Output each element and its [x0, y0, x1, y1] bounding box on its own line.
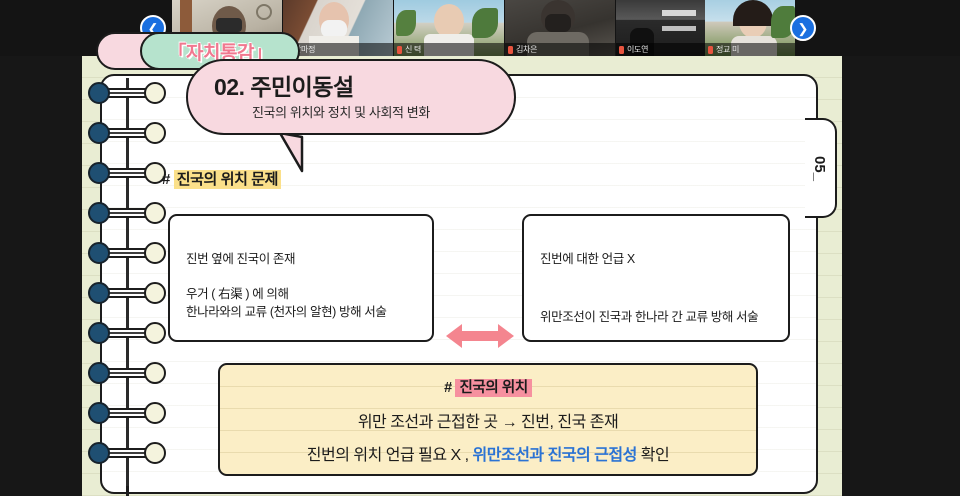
card-line-2b: 한나라와의 교류 (천자의 알현) 방해 서술	[186, 303, 422, 321]
double-arrow-horizontal-icon	[444, 318, 516, 354]
participant-name-bar: 김차은	[505, 43, 615, 56]
summary-row-1: 위만 조선과 근접한 곳 → 진번, 진국 존재	[220, 408, 756, 432]
participant-name-bar: 신 텩	[394, 43, 504, 56]
spiral-binding	[88, 78, 174, 490]
participant-name: 김차은	[516, 45, 537, 54]
spiral-ring	[88, 202, 168, 224]
spiral-ring	[88, 362, 168, 384]
page-title: 02. 주민이동설	[214, 68, 354, 102]
summary-hash: #	[444, 380, 452, 396]
participant-name: 이도연	[627, 45, 648, 54]
mic-muted-icon	[397, 46, 402, 54]
slide-title-bubble: 02. 주민이동설 진국의 위치와 정치 및 사회적 변화	[186, 59, 516, 135]
participant-tile[interactable]: 정교 미	[705, 0, 795, 56]
summary-row-2-pre: 진번의 위치 언급 필요 X ,	[307, 447, 473, 464]
summary-row-2-post: 확인	[637, 447, 669, 464]
screen: 최원빈(총무.. 날마정 신 텩	[0, 0, 960, 496]
section-heading: # 진국의 위치 문제	[162, 168, 281, 189]
participant-name: 신 텩	[405, 45, 421, 54]
spiral-ring	[88, 322, 168, 344]
summary-row-2-highlight: 위만조선과 진국의 근접성	[473, 447, 637, 464]
spiral-ring	[88, 282, 168, 304]
participant-name-bar: 정교 미	[705, 43, 795, 56]
spiral-ring	[88, 82, 168, 104]
summary-box: # 진국의 위치 위만 조선과 근접한 곳 → 진번, 진국 존재 진번의 위치…	[218, 363, 758, 476]
participant-tile[interactable]: 김차은	[505, 0, 615, 56]
source-card-body: 진번에 대한 언급 X 위만조선이 진국과 한나라 간 교류 방해 서술	[540, 250, 778, 326]
card-line-1: 진번에 대한 언급 X	[540, 250, 778, 268]
title-bubble-tail	[278, 131, 306, 173]
spiral-ring	[88, 442, 168, 464]
section-hash: #	[162, 171, 170, 188]
summary-heading-text: 진국의 위치	[455, 379, 531, 397]
summary-row-2: 진번의 위치 언급 필요 X , 위만조선과 진국의 근접성 확인	[220, 441, 756, 465]
source-card-body: 진번 옆에 진국이 존재 우거 ( 右渠 ) 에 의해 한나라와의 교류 (천자…	[186, 250, 422, 321]
chevron-right-icon[interactable]: ❯	[790, 15, 816, 41]
page-subtitle: 진국의 위치와 정치 및 사회적 변화	[252, 102, 430, 121]
mic-muted-icon	[708, 46, 713, 54]
mic-muted-icon	[508, 46, 513, 54]
spiral-ring	[88, 122, 168, 144]
source-card-sagi: 진번 옆에 진국이 존재 우거 ( 右渠 ) 에 의해 한나라와의 교류 (천자…	[168, 214, 434, 342]
participant-tile[interactable]: 신 텩	[394, 0, 504, 56]
mic-muted-icon	[619, 46, 624, 54]
spiral-bottom-line	[126, 486, 129, 496]
card-line-2a: 우거 ( 右渠 ) 에 의해	[186, 285, 422, 303]
shared-slide: 05_ 02. 주민이동설 진국의 위치와 정치 및 사회적 변화	[82, 56, 842, 496]
spiral-ring	[88, 162, 168, 184]
section-heading-text: 진국의 위치 문제	[174, 170, 281, 189]
spiral-ring	[88, 402, 168, 424]
source-card-jachitonggam: 진번에 대한 언급 X 위만조선이 진국과 한나라 간 교류 방해 서술	[522, 214, 790, 342]
participant-name: 정교 미	[716, 45, 739, 54]
card-line-2a: 위만조선이 진국과 한나라 간 교류 방해 서술	[540, 308, 778, 326]
card-line-1: 진번 옆에 진국이 존재	[186, 250, 422, 268]
summary-heading: # 진국의 위치	[220, 376, 756, 397]
page-number-tab: 05_	[805, 118, 837, 218]
page-number: 05_	[812, 155, 829, 180]
spiral-ring	[88, 242, 168, 264]
